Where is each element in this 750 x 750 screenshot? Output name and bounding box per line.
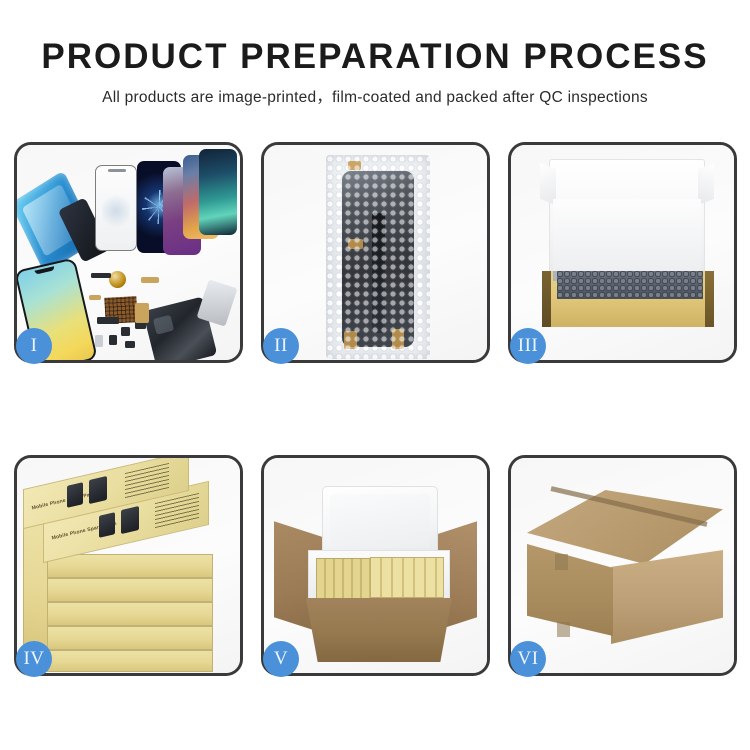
step-panel-2: II: [261, 142, 490, 363]
stacked-box: [47, 650, 213, 672]
step-badge-2: II: [263, 328, 299, 364]
step-panel-1: I: [14, 142, 243, 363]
carton-side-face: [611, 550, 723, 644]
outer-carton-body-icon: [306, 598, 452, 662]
step-image-4: Mobile Phone Spare Parts Mobile Phone Sp…: [17, 458, 240, 673]
kraft-boxes-in-foam: [370, 557, 444, 598]
carton-tape-icon: [555, 554, 568, 570]
bubble-texture-overlay: [326, 155, 430, 359]
carton-tape-icon: [557, 622, 570, 637]
flex-cable-icon: [89, 295, 101, 300]
bubble-wrap-bag-icon: [326, 155, 430, 359]
step-badge-5: V: [263, 641, 299, 677]
small-part-icon: [97, 317, 119, 324]
header: PRODUCT PREPARATION PROCESS All products…: [0, 0, 750, 107]
step-badge-1: I: [16, 328, 52, 364]
step-badge-6: VI: [510, 641, 546, 677]
step-image-1: [17, 145, 240, 360]
step-panel-6: VI: [508, 455, 737, 676]
step-badge-3: III: [510, 328, 546, 364]
step-panel-5: V: [261, 455, 490, 676]
small-part-icon: [91, 273, 111, 278]
product-preparation-infographic: PRODUCT PREPARATION PROCESS All products…: [0, 0, 750, 750]
foam-cooler-lid-icon: [322, 486, 438, 556]
box-stack-icon: Mobile Phone Spare Parts Mobile Phone Sp…: [17, 458, 240, 673]
box-phone-graphic: [89, 476, 107, 504]
carton-front-face: [527, 544, 613, 636]
step-image-2: [264, 145, 487, 360]
box-phone-graphic: [99, 512, 115, 538]
small-part-icon: [95, 335, 103, 347]
tempered-glass-icon: [95, 165, 137, 251]
stacked-box: [47, 626, 213, 650]
box-phone-graphic: [121, 506, 139, 534]
steps-grid: I II: [14, 142, 736, 676]
small-part-icon: [109, 335, 117, 345]
stacked-box: [47, 602, 213, 626]
box-phone-graphic: [67, 482, 83, 508]
small-part-icon: [121, 327, 130, 336]
repair-tool-icon: [197, 279, 238, 326]
step-image-3: [511, 145, 734, 360]
stacked-box: [47, 578, 213, 602]
phone-screen-teal-icon: [199, 149, 237, 235]
step-panel-3: III: [508, 142, 737, 363]
step-badge-4: IV: [16, 641, 52, 677]
step-image-6: [511, 458, 734, 673]
stacked-box: [47, 554, 213, 578]
step-image-5: [264, 458, 487, 673]
bubble-wrap-fill-icon: [557, 271, 703, 299]
foam-sheet-icon: [553, 199, 701, 273]
flex-cable-icon: [135, 303, 149, 323]
page-subtitle: All products are image-printed，film-coat…: [0, 85, 750, 107]
small-part-icon: [125, 341, 135, 348]
gold-coil-part-icon: [109, 271, 126, 288]
flex-cable-icon: [141, 277, 159, 283]
page-title: PRODUCT PREPARATION PROCESS: [0, 36, 750, 78]
step-panel-4: Mobile Phone Spare Parts Mobile Phone Sp…: [14, 455, 243, 676]
